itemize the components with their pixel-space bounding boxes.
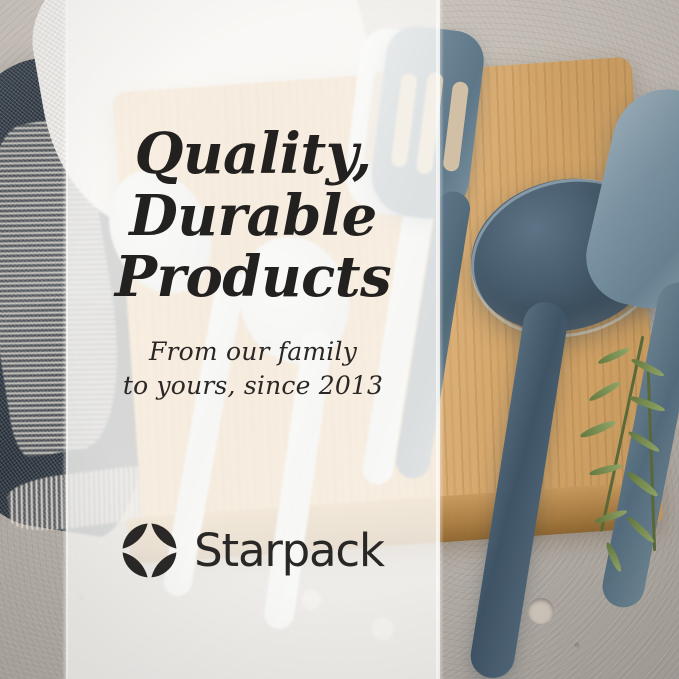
subheadline-line-2: to yours, since 2013 — [83, 369, 423, 404]
subheadline-line-1: From our family — [83, 335, 423, 370]
starpack-four-point-star-in-circle-icon — [122, 523, 177, 578]
rosemary-stem — [647, 371, 656, 551]
rosemary-leaf — [627, 429, 661, 455]
product-brand-banner: Quality, Durable Products From our famil… — [0, 0, 679, 679]
headline-line-2: Durable — [73, 186, 433, 248]
rosemary-leaf — [594, 509, 629, 525]
brand-wordmark: Starpack — [194, 528, 384, 573]
rosemary-leaf — [604, 541, 622, 573]
rosemary-leaf — [625, 469, 659, 500]
headline-line-3: Products — [73, 247, 433, 309]
turner-slot — [442, 81, 469, 172]
subheadline: From our family to yours, since 2013 — [83, 335, 423, 404]
brand-logo-lockup: Starpack — [66, 523, 440, 578]
headline: Quality, Durable Products — [73, 0, 433, 309]
headline-line-1: Quality, — [73, 124, 433, 186]
